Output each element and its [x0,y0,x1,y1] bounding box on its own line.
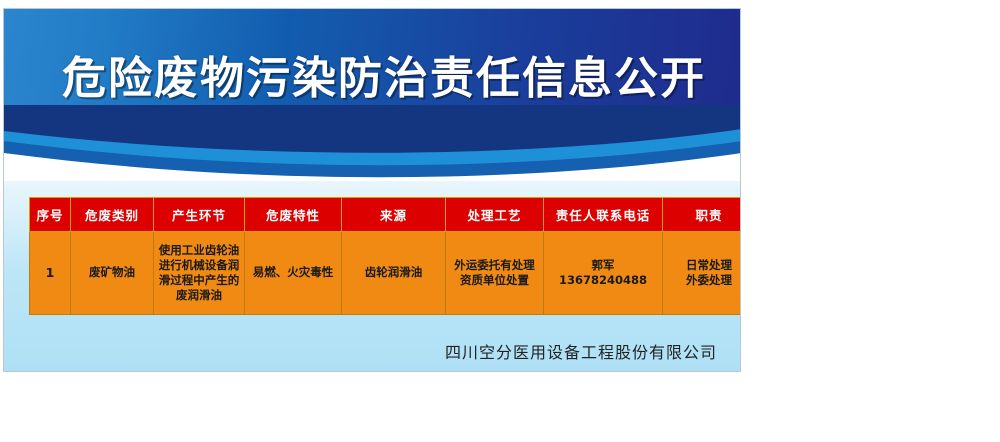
header-category: 危废类别 [71,198,154,232]
information-disclosure-poster: 危险废物污染防治责任信息公开 序号 危废类别 产生环节 危废特性 来源 处理工艺… [3,8,741,372]
cell-treatment-process: 外运委托有处理资质单位处置 [446,232,544,315]
table-header-row: 序号 危废类别 产生环节 危废特性 来源 处理工艺 责任人联系电话 职责 [30,198,742,232]
cell-category: 废矿物油 [71,232,154,315]
header-contact-phone: 责任人联系电话 [544,198,663,232]
cell-generation-stage: 使用工业齿轮油进行机械设备润滑过程中产生的废润滑油 [154,232,245,315]
hazardous-waste-table-wrapper: 序号 危废类别 产生环节 危废特性 来源 处理工艺 责任人联系电话 职责 1 废… [29,197,715,315]
header-generation-stage: 产生环节 [154,198,245,232]
wave-decoration [4,105,741,181]
cell-source: 齿轮润滑油 [342,232,446,315]
wave-svg [4,105,741,181]
cell-index: 1 [30,232,71,315]
table-body: 1 废矿物油 使用工业齿轮油进行机械设备润滑过程中产生的废润滑油 易燃、火灾毒性… [30,232,742,315]
cell-hazard-property: 易燃、火灾毒性 [245,232,342,315]
hazardous-waste-table: 序号 危废类别 产生环节 危废特性 来源 处理工艺 责任人联系电话 职责 1 废… [29,197,741,315]
header-hazard-property: 危废特性 [245,198,342,232]
header-treatment-process: 处理工艺 [446,198,544,232]
header-source: 来源 [342,198,446,232]
cell-contact-phone: 郭军 13678240488 [544,232,663,315]
cell-duty: 日常处理 外委处理 [663,232,742,315]
company-name: 四川空分医用设备工程股份有限公司 [4,339,717,363]
table-row: 1 废矿物油 使用工业齿轮油进行机械设备润滑过程中产生的废润滑油 易燃、火灾毒性… [30,232,742,315]
header-index: 序号 [30,198,71,232]
header-duty: 职责 [663,198,742,232]
table-head: 序号 危废类别 产生环节 危废特性 来源 处理工艺 责任人联系电话 职责 [30,198,742,232]
